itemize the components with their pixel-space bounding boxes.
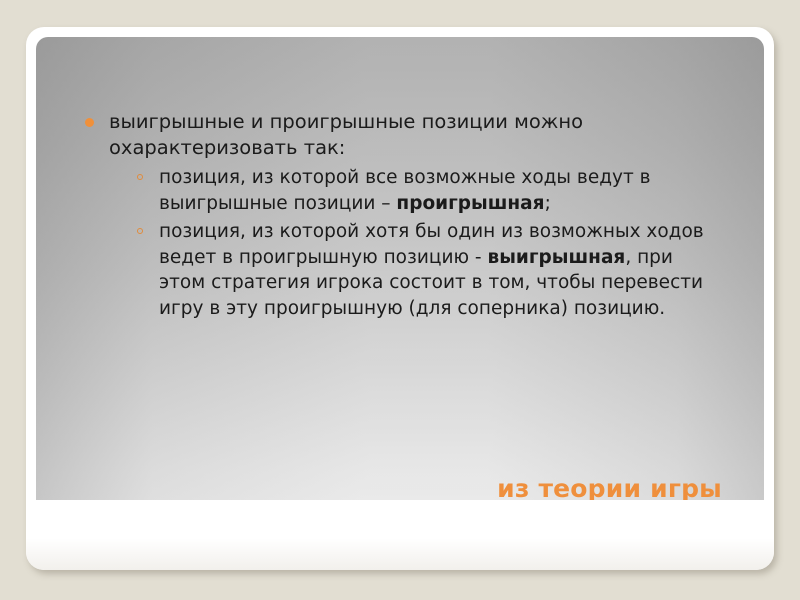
filled-circle-bullet-icon xyxy=(85,118,94,127)
hollow-circle-bullet-icon xyxy=(137,228,143,234)
slide-body-text: выигрышные и проигрышные позиции можно о… xyxy=(81,109,721,324)
bullet-text: выигрышные и проигрышные позиции можно о… xyxy=(109,110,583,159)
bullet-item-level-2: позиция, из которой хотя бы один из возм… xyxy=(131,219,721,321)
bullet-list-level-2: позиция, из которой все возможные ходы в… xyxy=(109,165,721,321)
slide-content-panel: выигрышные и проигрышные позиции можно о… xyxy=(36,37,764,517)
bullet-item-level-1: выигрышные и проигрышные позиции можно о… xyxy=(81,109,721,321)
slide-frame: выигрышные и проигрышные позиции можно о… xyxy=(26,27,774,570)
bullet-text: позиция, из которой все возможные ходы в… xyxy=(159,167,651,214)
bullet-text: позиция, из которой хотя бы один из возм… xyxy=(159,221,704,319)
bullet-list-level-1: выигрышные и проигрышные позиции можно о… xyxy=(81,109,721,321)
hollow-circle-bullet-icon xyxy=(137,174,143,180)
slide-title: из теории игры xyxy=(36,474,722,503)
bullet-item-level-2: позиция, из которой все возможные ходы в… xyxy=(131,165,721,216)
